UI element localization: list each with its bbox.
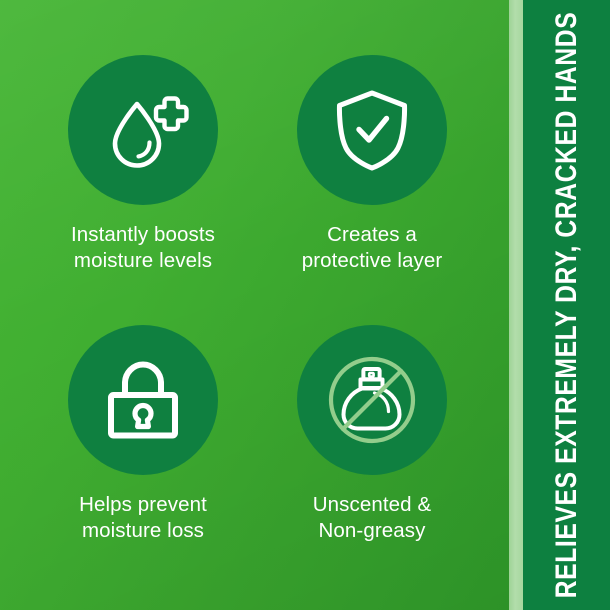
benefits-grid: Instantly boosts moisture levels Creates… — [0, 0, 509, 610]
vertical-banner: RELIEVES EXTREMELY DRY, CRACKED HANDS — [523, 0, 610, 610]
benefit-item-moisture-boost: Instantly boosts moisture levels — [28, 55, 258, 274]
benefit-icon-circle — [297, 325, 447, 475]
benefit-caption-line-2: protective layer — [257, 248, 487, 274]
benefit-caption: Creates a protective layer — [257, 222, 487, 274]
accent-strip — [509, 0, 523, 610]
benefit-icon-circle — [68, 55, 218, 205]
benefit-item-moisture-lock: Helps prevent moisture loss — [28, 325, 258, 544]
benefit-caption-line-1: Instantly boosts — [28, 222, 258, 248]
vertical-banner-text: RELIEVES EXTREMELY DRY, CRACKED HANDS — [552, 0, 582, 610]
benefit-caption-line-2: moisture levels — [28, 248, 258, 274]
infographic-root: Instantly boosts moisture levels Creates… — [0, 0, 610, 610]
benefit-caption-line-1: Creates a — [257, 222, 487, 248]
benefit-icon-circle — [297, 55, 447, 205]
benefit-caption-line-1: Helps prevent — [28, 492, 258, 518]
vertical-banner-label: RELIEVES EXTREMELY DRY, CRACKED HANDS — [552, 12, 582, 599]
benefit-item-unscented: Unscented & Non-greasy — [257, 325, 487, 544]
benefit-caption-line-2: Non-greasy — [257, 518, 487, 544]
benefit-caption: Helps prevent moisture loss — [28, 492, 258, 544]
benefit-caption-line-1: Unscented & — [257, 492, 487, 518]
shield-check-icon — [328, 86, 416, 174]
benefit-icon-circle — [68, 325, 218, 475]
benefit-item-protective-layer: Creates a protective layer — [257, 55, 487, 274]
no-fragrance-bottle-icon — [320, 348, 424, 452]
benefit-caption: Instantly boosts moisture levels — [28, 222, 258, 274]
padlock-icon — [100, 357, 186, 443]
benefit-caption-line-2: moisture loss — [28, 518, 258, 544]
water-droplet-plus-icon — [97, 84, 189, 176]
benefit-caption: Unscented & Non-greasy — [257, 492, 487, 544]
